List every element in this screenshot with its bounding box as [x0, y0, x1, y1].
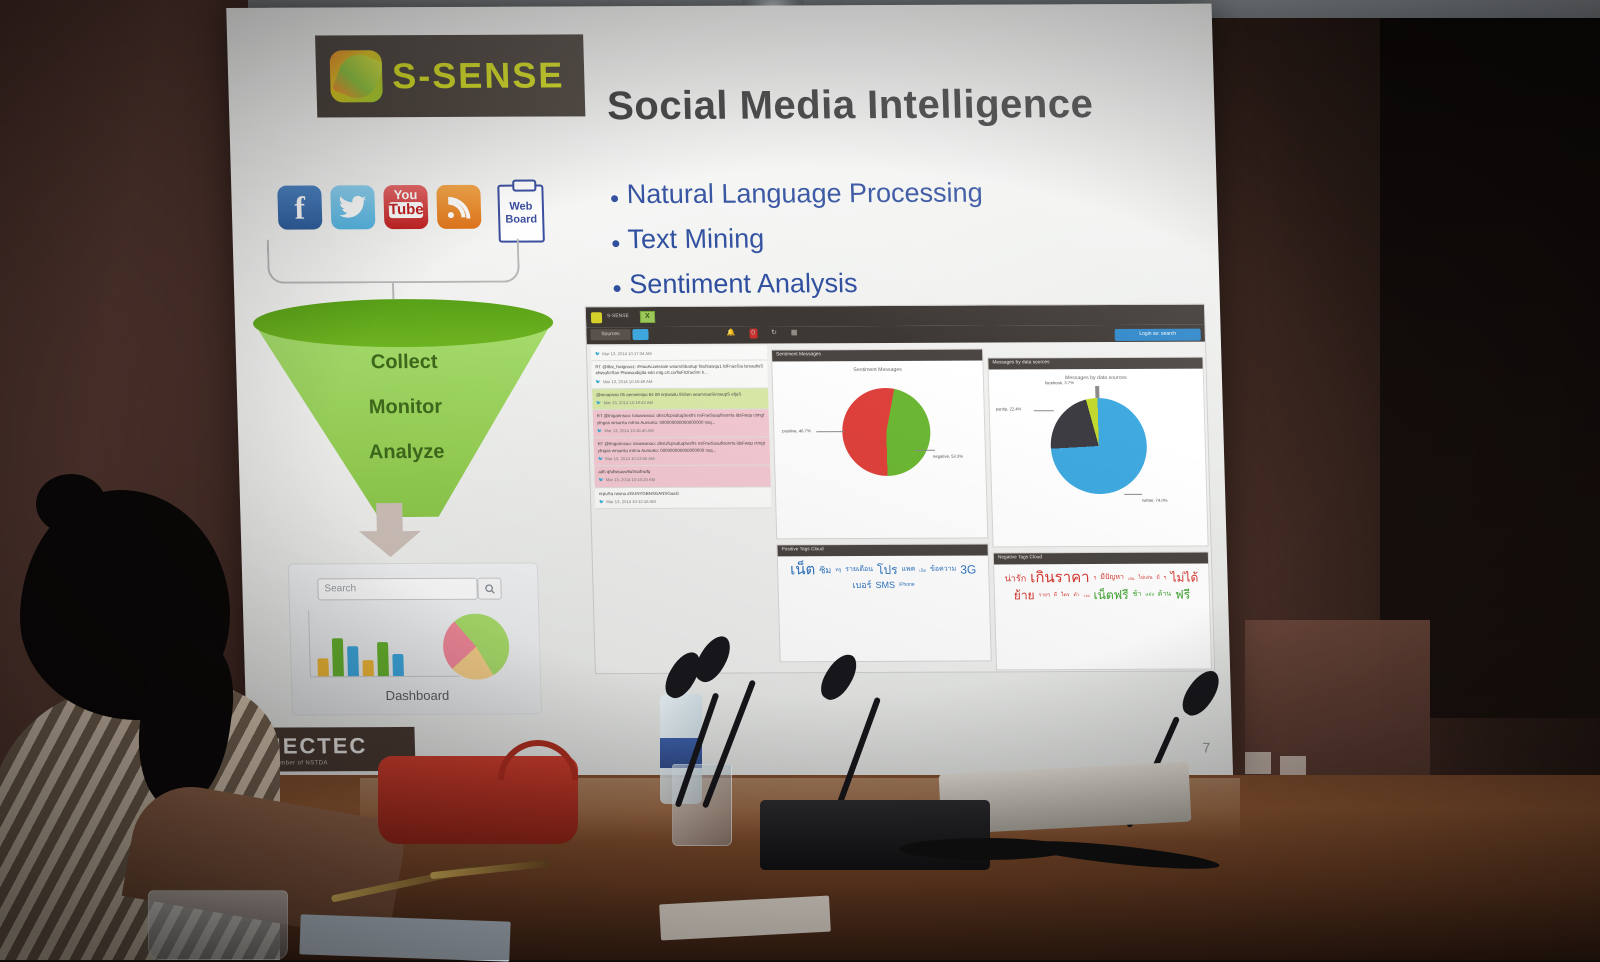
tag[interactable]: ไม่ได้	[1170, 570, 1198, 585]
pie-label-pantip: pantip, 22.4%	[996, 406, 1022, 412]
tag[interactable]: ไม่เล่น	[1138, 575, 1152, 581]
tag[interactable]: ดำ	[1073, 592, 1079, 598]
message-text: nrpuSa rwsno #GUNYGBNSGANSGuaG	[599, 490, 767, 497]
bell-icon[interactable]: 🔔	[726, 329, 735, 339]
source-icons: f You Tube Web Board	[277, 185, 545, 244]
tag[interactable]: มี	[1156, 575, 1159, 581]
tag[interactable]: iPhone	[899, 582, 915, 588]
funnel-step-collect: Collect	[254, 350, 555, 374]
tag[interactable]: ข้อความ	[930, 566, 956, 575]
conference-room: S-SENSE Social Media Intelligence ● Natu…	[0, 0, 1600, 960]
feed-message[interactable]: @mnapnan 05 aemwnspu 64 08 nrpwadu 05Sen…	[592, 388, 769, 410]
tag[interactable]: ทรู	[835, 567, 841, 573]
down-arrow-head	[359, 531, 422, 557]
message-timestamp: Mar 13, 2014 10:15:49 AM	[596, 378, 764, 385]
tag[interactable]: ดี	[1054, 592, 1057, 598]
excel-export-icon[interactable]	[640, 311, 655, 323]
tag[interactable]: เล่น	[1128, 576, 1135, 581]
message-text: RT @ittai_hwignooz: #HaoAccelerate wsami…	[595, 364, 763, 377]
tag[interactable]: รายๆ	[1039, 592, 1050, 598]
pie-chart	[442, 614, 510, 680]
bullet-item: ● Sentiment Analysis	[612, 262, 1173, 309]
rss-icon	[436, 185, 481, 229]
webboard-label-bottom: Board	[505, 214, 537, 227]
twitter-filter-chip[interactable]	[632, 329, 648, 340]
app-screenshot: S-SENSE Sources 🔔 0 ↻ ▦ Login as: search…	[585, 304, 1215, 675]
app-toolbar: 🔔 0 ↻ ▦	[726, 328, 797, 338]
bar	[392, 654, 404, 676]
feed-message[interactable]: RT @ittai_hwignooz: #HaoAccelerate wsami…	[591, 361, 768, 390]
panel-header: Negative Tags Cloud	[994, 553, 1208, 565]
panel-header: Sentiment Messages	[772, 350, 982, 362]
youtube-icon: You Tube	[383, 185, 428, 229]
page-title: Social Media Intelligence	[607, 82, 1188, 130]
tag[interactable]: ซิม	[819, 565, 831, 576]
message-timestamp: Mar 13, 2014 10:10:25 AM	[598, 477, 766, 484]
alert-badge: 0	[749, 329, 757, 339]
tag[interactable]: เน็ตฟรี	[1093, 588, 1128, 603]
panel-positive-tags: Positive Tags Cloud เน็ตซิมทรูรายเดือนโป…	[776, 543, 991, 662]
wall-socket	[1245, 752, 1271, 774]
funnel-steps: Collect Monitor Analyze	[254, 350, 558, 486]
feed-message[interactable]: RT @tmgarinsoo: losuwwnao: dhsUfcpsufuqS…	[593, 438, 770, 467]
tag[interactable]: ช้า	[1132, 591, 1141, 600]
dashboard-caption: Dashboard	[292, 687, 542, 703]
page-number: 7	[1202, 739, 1210, 755]
app-topbar: S-SENSE	[586, 305, 1207, 328]
tag[interactable]: 3G	[960, 562, 976, 577]
ssense-logo-icon	[329, 50, 382, 102]
bar	[347, 646, 359, 676]
feed-message[interactable]: RT @tmgarinsoo: losuwwnao: dhsUfcpsufuqS…	[593, 410, 770, 439]
message-timestamp: Mar 13, 2014 10:15:40 AM	[597, 428, 765, 435]
sentiment-pie-chart	[841, 388, 931, 476]
bullet-label: Sentiment Analysis	[629, 268, 858, 299]
tag[interactable]: แจ๋ง	[1145, 592, 1154, 598]
glass-cup	[148, 890, 288, 960]
panel-header: Messages by data sources	[988, 358, 1202, 370]
tag[interactable]: น่ารัก	[1005, 573, 1027, 584]
mic-base-unit	[760, 800, 990, 870]
feed-message[interactable]: nrpuSa rwsno #GUNYGBNSGANSGuaGMar 13, 20…	[595, 487, 772, 509]
twitter-icon	[330, 185, 375, 229]
pie-label-positive: positive, 46.7%	[782, 428, 811, 434]
funnel-step-analyze: Analyze	[256, 440, 557, 464]
message-text: ad5 qfufwsuowfiuSsafnwfq	[598, 469, 766, 476]
tag[interactable]: เน็ต	[919, 568, 926, 573]
bar	[362, 660, 373, 676]
tag[interactable]: เกินราคา	[1030, 569, 1090, 588]
projection-screen: S-SENSE Social Media Intelligence ● Natu…	[214, 0, 1247, 800]
message-timestamp: Mar 13, 2014 10:17:34 AM	[595, 351, 763, 358]
message-text: RT @tmgarinsoo: losuwwnao: dhsUfcpsufuqS…	[597, 441, 765, 454]
search-input[interactable]: Search	[317, 578, 478, 601]
ssense-logo-text: S-SENSE	[392, 54, 565, 97]
tag[interactable]: ด้าน	[1158, 591, 1172, 600]
tag[interactable]: ฟรี	[1175, 587, 1190, 602]
pie-label-twitter: twitter, 74.0%	[1142, 498, 1167, 504]
dashboard-thumbnail: Search Dashboard	[288, 562, 542, 715]
tag[interactable]: SMS	[875, 580, 895, 591]
message-timestamp: Mar 13, 2014 10:19:42 AM	[596, 400, 764, 407]
bullet-label: Natural Language Processing	[626, 178, 983, 210]
bullet-list: ● Natural Language Processing ● Text Min…	[609, 172, 1173, 309]
red-handbag	[378, 756, 578, 844]
message-text: RT @tmgarinsoo: losuwwnao: dhsUfcpsufuqS…	[597, 413, 765, 426]
bullet-item: ● Natural Language Processing	[609, 172, 1170, 219]
youtube-label-bottom: Tube	[389, 202, 423, 218]
panel-header: Positive Tags Cloud	[777, 544, 987, 556]
search-icon[interactable]	[477, 578, 502, 600]
tag[interactable]: ๆ	[1094, 575, 1097, 581]
bullet-item: ● Text Mining	[610, 217, 1171, 264]
wall-dark-column	[1380, 18, 1600, 718]
app-brand-label: S-SENSE	[607, 313, 629, 320]
chart-title: Messages by data sources	[989, 375, 1203, 383]
feed-message[interactable]: Mar 13, 2014 10:17:34 AM	[591, 345, 767, 361]
message-feed[interactable]: Mar 13, 2014 10:17:34 AMRT @ittai_hwigno…	[591, 345, 776, 670]
slide: S-SENSE Social Media Intelligence ● Natu…	[226, 4, 1233, 783]
tag[interactable]: เน็ต	[790, 561, 816, 580]
webboard-icon: Web Board	[497, 185, 545, 243]
sources-pie-chart	[1049, 398, 1148, 494]
tag[interactable]: ใคร	[1061, 592, 1070, 598]
bullet-label: Text Mining	[627, 224, 764, 255]
tag[interactable]: โปร	[877, 563, 898, 578]
positive-tag-cloud[interactable]: เน็ตซิมทรูรายเดือนโปรแพคเน็ตข้อความ3Gเบอ…	[782, 560, 987, 658]
paper-sheet	[299, 914, 510, 961]
refresh-icon[interactable]: ↻	[771, 328, 777, 338]
tag[interactable]: ๆ	[1164, 575, 1167, 581]
down-arrow-icon	[376, 503, 403, 533]
chart-title: Sentiment Messages	[772, 367, 982, 375]
negative-tag-cloud[interactable]: น่ารักเกินราคาๆมีปัญหาเล่นไม่เล่นมีๆไม่ไ…	[998, 569, 1207, 667]
grid-icon[interactable]: ▦	[791, 328, 798, 338]
tag[interactable]: แพค	[901, 566, 915, 575]
brace-stem	[392, 283, 394, 299]
tab-sources[interactable]: Sources	[590, 329, 630, 340]
webboard-label-top: Web	[509, 201, 532, 214]
tag[interactable]: มีปัญหา	[1100, 574, 1124, 583]
facebook-icon: f	[277, 185, 322, 229]
login-button[interactable]: Login as: search	[1115, 329, 1201, 341]
app-logo-icon	[591, 312, 602, 323]
pie-label-facebook: facebook, 3.7%	[1045, 380, 1074, 386]
message-text: @mnapnan 05 aemwnspu 64 08 nrpwadu 05Sen…	[596, 391, 764, 398]
brace-connector	[267, 239, 520, 284]
bar	[317, 658, 329, 676]
seated-person	[0, 470, 300, 960]
panel-messages-by-source: Messages by data sources Messages by dat…	[987, 357, 1208, 548]
panel-sentiment-messages: Sentiment Messages Sentiment Messages po…	[771, 349, 988, 540]
youtube-label-top: You	[385, 188, 425, 201]
tag[interactable]: เบอร์	[852, 580, 871, 591]
ssense-logo: S-SENSE	[315, 34, 585, 117]
pie-label-negative: negative, 53.3%	[933, 454, 963, 460]
tag[interactable]: รายเดือน	[845, 566, 873, 575]
message-timestamp: Mar 13, 2014 10:13:55 AM	[598, 455, 766, 462]
person-hair-bun	[36, 474, 106, 534]
panel-negative-tags: Negative Tags Cloud น่ารักเกินราคาๆมีปัญ…	[993, 552, 1212, 671]
bar-chart	[316, 622, 404, 676]
tag[interactable]: ย้าย	[1014, 588, 1035, 603]
funnel-step-monitor: Monitor	[255, 395, 556, 419]
tag[interactable]: เวอ	[1083, 593, 1089, 598]
bar	[332, 638, 344, 676]
message-timestamp: Mar 13, 2014 10:12:18 AM	[599, 498, 767, 505]
feed-message[interactable]: ad5 qfufwsuowfiuSsafnwfqMar 13, 2014 10:…	[594, 466, 771, 488]
bar	[377, 642, 389, 676]
chart-y-axis	[308, 610, 311, 676]
